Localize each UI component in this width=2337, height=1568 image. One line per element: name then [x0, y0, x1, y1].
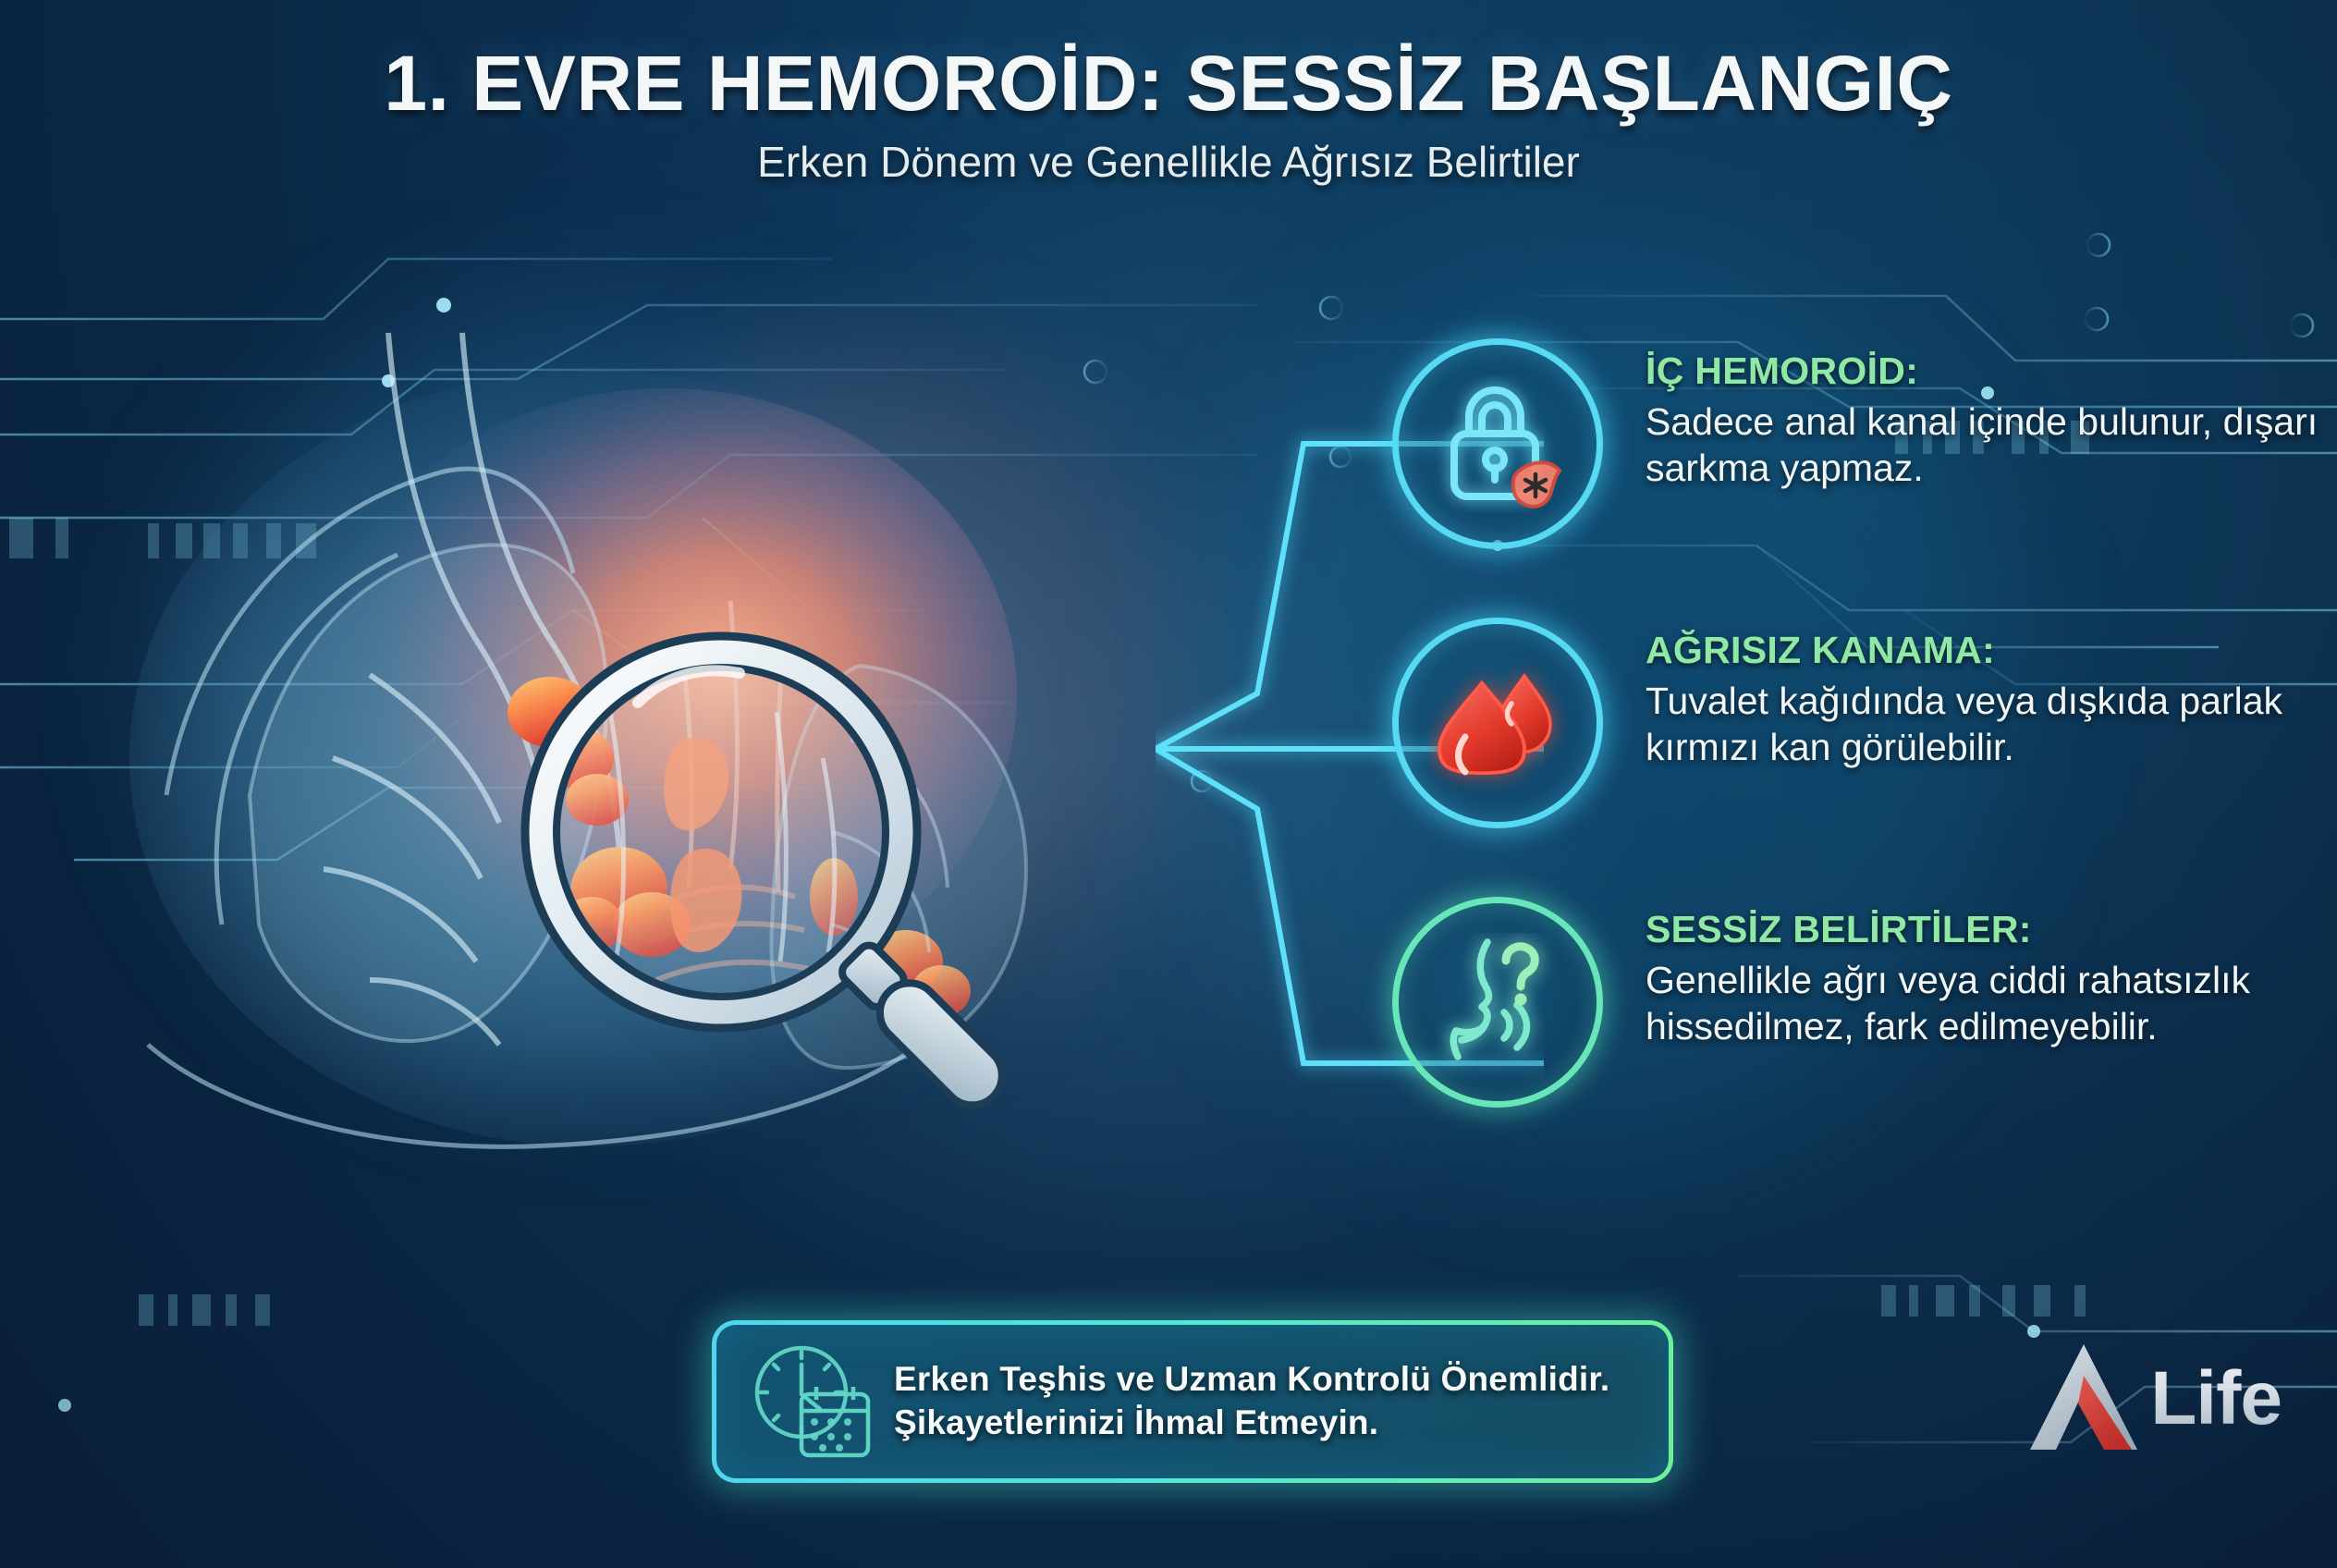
- symptom-body: Tuvalet kağıdında veya dışkıda parlak kı…: [1646, 678, 2330, 770]
- symptom-heading: İÇ HEMOROİD:: [1646, 349, 2330, 393]
- clock-calendar-icon: [748, 1341, 877, 1463]
- brand-logo-text: Life: [2150, 1355, 2282, 1442]
- infographic-root: 1. EVRE HEMOROİD: SESSİZ BAŞLANGIÇ Erken…: [0, 0, 2337, 1568]
- banner-line-1: Erken Teşhis ve Uzman Kontrolü Önemlidir…: [894, 1358, 1609, 1402]
- page-subtitle: Erken Dönem ve Genellikle Ağrısız Belirt…: [0, 137, 2337, 187]
- page-title: 1. EVRE HEMOROİD: SESSİZ BAŞLANGIÇ: [0, 44, 2337, 124]
- brand-logo: Life: [2023, 1342, 2282, 1455]
- symptom-body: Sadece anal kanal içinde bulunur, dışarı…: [1646, 398, 2330, 491]
- list-item: AĞRISIZ KANAMA: Tuvalet kağıdında veya d…: [1387, 612, 2330, 834]
- a-chevron-logo-icon: [2023, 1342, 2145, 1455]
- blood-drop-icon: [1387, 612, 1609, 834]
- header: 1. EVRE HEMOROİD: SESSİZ BAŞLANGIÇ Erken…: [0, 44, 2337, 187]
- list-item: SESSİZ BELİRTİLER: Genellikle ağrı veya …: [1387, 891, 2330, 1113]
- symptom-heading: AĞRISIZ KANAMA:: [1646, 629, 2330, 672]
- silent-face-icon: [1387, 891, 1609, 1113]
- banner-line-2: Şikayetlerinizi İhmal Etmeyin.: [894, 1402, 1609, 1445]
- list-item: İÇ HEMOROİD: Sadece anal kanal içinde bu…: [1387, 333, 2330, 555]
- padlock-icon: [1387, 333, 1609, 555]
- symptom-heading: SESSİZ BELİRTİLER:: [1646, 908, 2330, 951]
- anorectal-cross-section-illustration: [92, 277, 1220, 1202]
- callout-banner: Erken Teşhis ve Uzman Kontrolü Önemlidir…: [712, 1320, 1673, 1483]
- symptom-list: İÇ HEMOROİD: Sadece anal kanal içinde bu…: [1387, 333, 2330, 1170]
- symptom-body: Genellikle ağrı veya ciddi rahatsızlık h…: [1646, 957, 2330, 1049]
